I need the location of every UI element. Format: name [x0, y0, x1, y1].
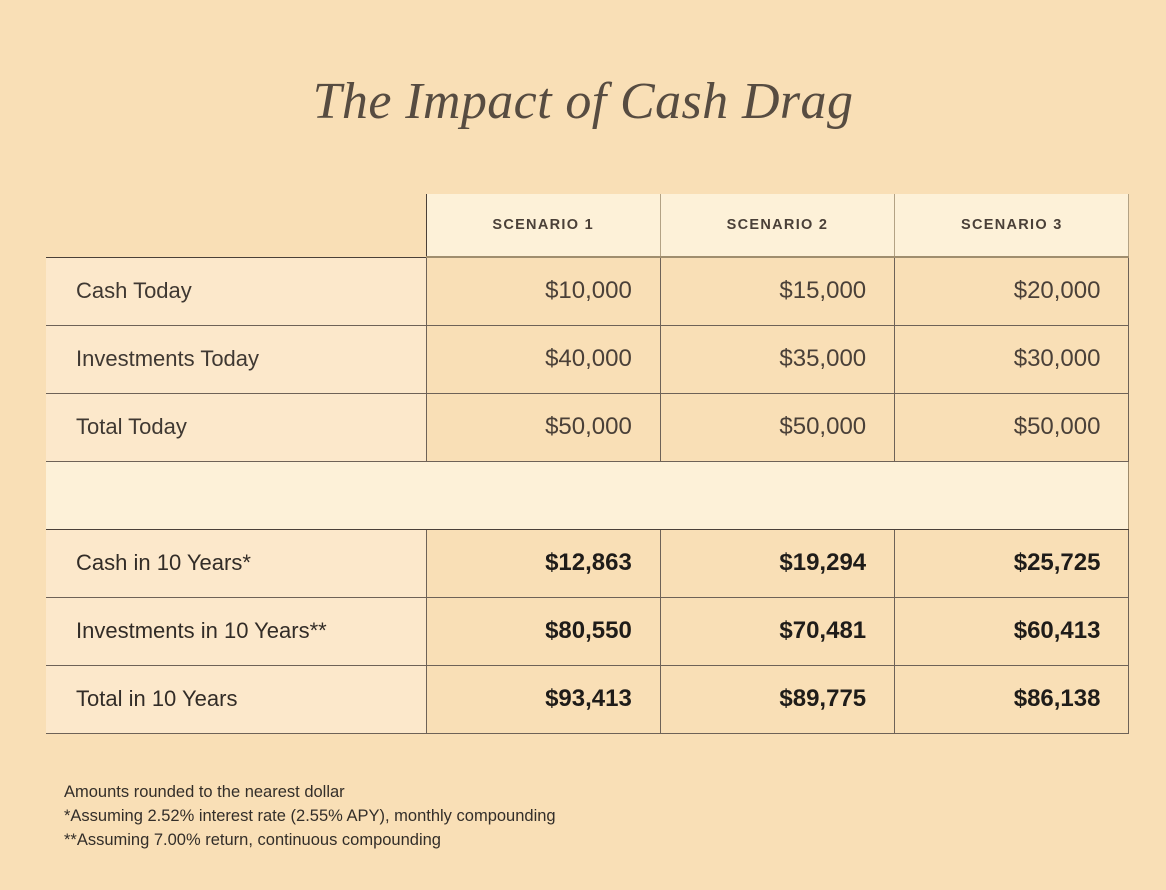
footnotes: Amounts rounded to the nearest dollar *A… — [64, 780, 556, 852]
column-header-scenario-1: SCENARIO 1 — [426, 194, 660, 257]
cell-cash-10y-scenario-1: $12,863 — [426, 529, 660, 597]
row-label-total-today: Total Today — [46, 393, 426, 461]
cell-cash-today-scenario-1: $10,000 — [426, 257, 660, 325]
cell-cash-10y-scenario-2: $19,294 — [660, 529, 894, 597]
cell-investments-10y-scenario-1: $80,550 — [426, 597, 660, 665]
page-title: The Impact of Cash Drag — [0, 72, 1166, 131]
row-label-investments-in-10-years: Investments in 10 Years** — [46, 597, 426, 665]
cell-cash-today-scenario-3: $20,000 — [895, 257, 1129, 325]
cell-total-10y-scenario-2: $89,775 — [660, 665, 894, 733]
table-row: Total Today $50,000 $50,000 $50,000 — [46, 393, 1129, 461]
table-row: Investments in 10 Years** $80,550 $70,48… — [46, 597, 1129, 665]
cell-investments-10y-scenario-3: $60,413 — [895, 597, 1129, 665]
table-header-row: SCENARIO 1 SCENARIO 2 SCENARIO 3 — [46, 194, 1129, 257]
cell-investments-today-scenario-2: $35,000 — [660, 325, 894, 393]
row-label-total-in-10-years: Total in 10 Years — [46, 665, 426, 733]
footnote-investment-assumption: **Assuming 7.00% return, continuous comp… — [64, 828, 556, 852]
footnote-cash-assumption: *Assuming 2.52% interest rate (2.55% APY… — [64, 804, 556, 828]
column-header-scenario-2: SCENARIO 2 — [660, 194, 894, 257]
cell-cash-today-scenario-2: $15,000 — [660, 257, 894, 325]
cell-investments-10y-scenario-2: $70,481 — [660, 597, 894, 665]
table-row: Total in 10 Years $93,413 $89,775 $86,13… — [46, 665, 1129, 733]
table-row: Cash Today $10,000 $15,000 $20,000 — [46, 257, 1129, 325]
cell-total-today-scenario-2: $50,000 — [660, 393, 894, 461]
row-label-investments-today: Investments Today — [46, 325, 426, 393]
cell-total-10y-scenario-1: $93,413 — [426, 665, 660, 733]
separator-cell — [46, 461, 1129, 529]
footnote-rounding: Amounts rounded to the nearest dollar — [64, 780, 556, 804]
row-label-cash-today: Cash Today — [46, 257, 426, 325]
cash-drag-infographic: The Impact of Cash Drag SCENARIO 1 SCENA… — [0, 0, 1166, 890]
comparison-table-container: SCENARIO 1 SCENARIO 2 SCENARIO 3 Cash To… — [46, 194, 1129, 734]
table-row: Cash in 10 Years* $12,863 $19,294 $25,72… — [46, 529, 1129, 597]
cell-total-10y-scenario-3: $86,138 — [895, 665, 1129, 733]
table-row: Investments Today $40,000 $35,000 $30,00… — [46, 325, 1129, 393]
row-label-cash-in-10-years: Cash in 10 Years* — [46, 529, 426, 597]
cell-cash-10y-scenario-3: $25,725 — [895, 529, 1129, 597]
cell-investments-today-scenario-3: $30,000 — [895, 325, 1129, 393]
cell-total-today-scenario-1: $50,000 — [426, 393, 660, 461]
cell-total-today-scenario-3: $50,000 — [895, 393, 1129, 461]
column-header-scenario-3: SCENARIO 3 — [895, 194, 1129, 257]
table-corner-cell — [46, 194, 426, 257]
cash-drag-comparison-table: SCENARIO 1 SCENARIO 2 SCENARIO 3 Cash To… — [46, 194, 1129, 734]
table-section-separator-row — [46, 461, 1129, 529]
cell-investments-today-scenario-1: $40,000 — [426, 325, 660, 393]
